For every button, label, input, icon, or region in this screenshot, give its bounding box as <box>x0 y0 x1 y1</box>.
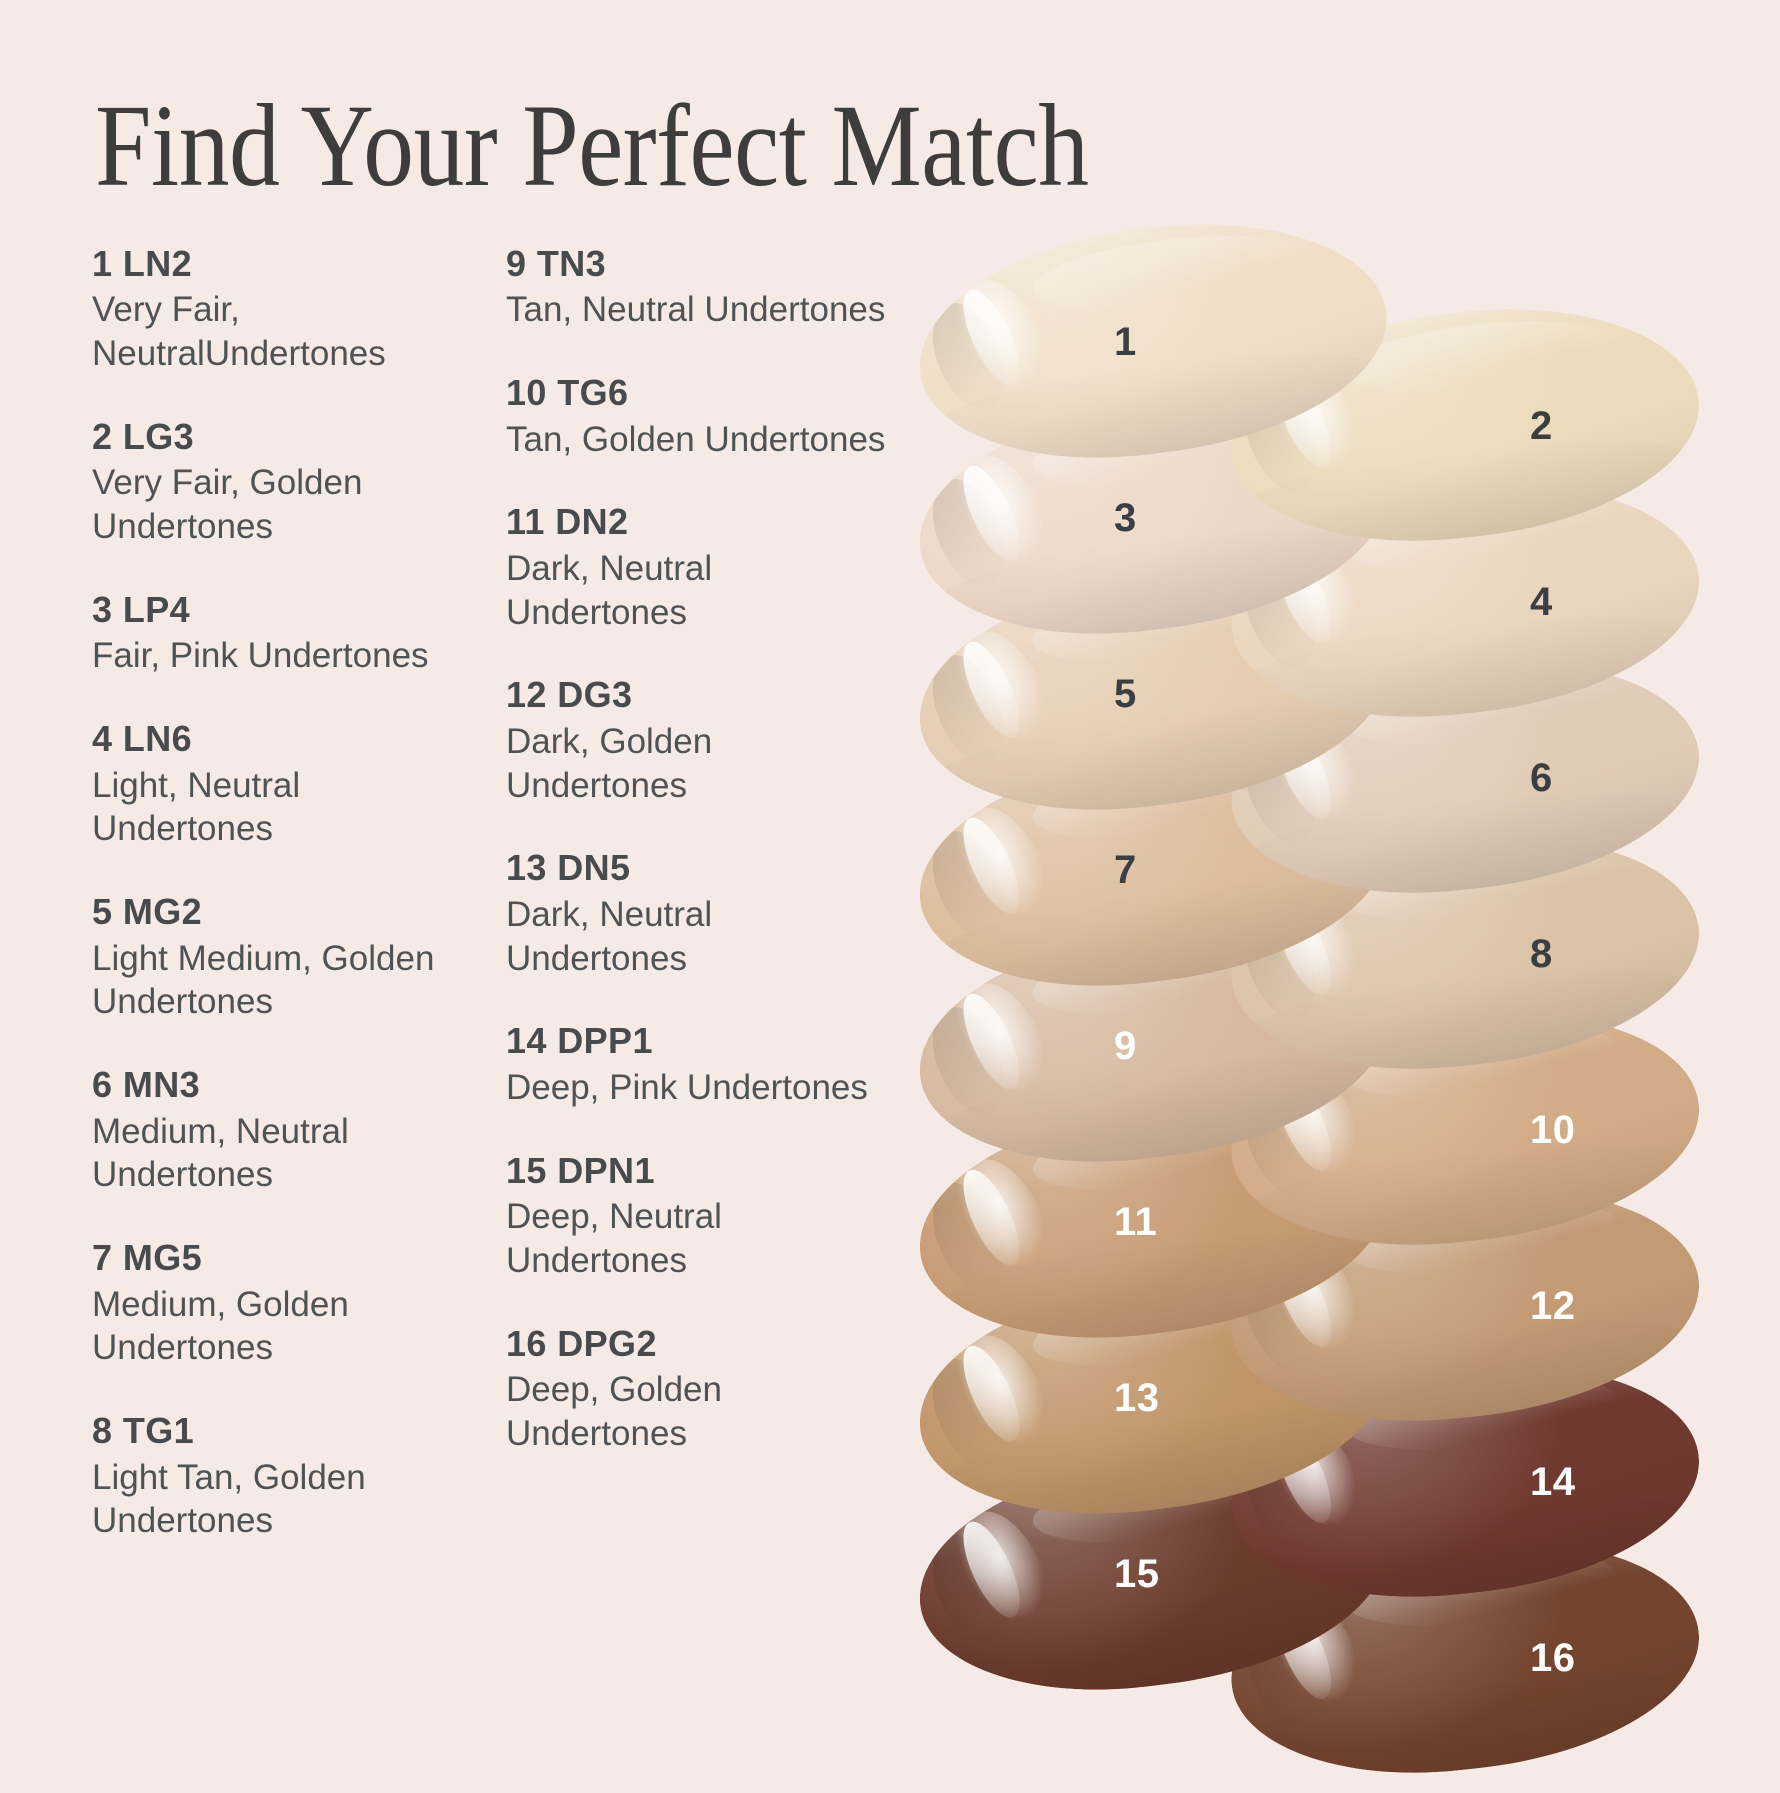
shade-description: Fair, Pink Undertones <box>92 634 450 678</box>
shade-code: 6 MN3 <box>92 1064 450 1106</box>
shade-list: 1 LN2 Very Fair, NeutralUndertones 2 LG3… <box>0 243 900 1583</box>
shade-list-column-left: 1 LN2 Very Fair, NeutralUndertones 2 LG3… <box>0 243 450 1583</box>
shade-code: 15 DPN1 <box>506 1150 900 1192</box>
shade-description: Light Tan, Golden Undertones <box>92 1456 450 1544</box>
shade-description: Dark, Neutral Undertones <box>506 893 900 981</box>
shade-code: 3 LP4 <box>92 589 450 631</box>
shade-item-13: 13 DN5 Dark, Neutral Undertones <box>506 847 900 980</box>
shade-list-column-right: 9 TN3 Tan, Neutral Undertones 10 TG6 Tan… <box>450 243 900 1583</box>
shade-code: 5 MG2 <box>92 891 450 933</box>
shade-description: Tan, Neutral Undertones <box>506 288 900 332</box>
shade-description: Light Medium, Golden Undertones <box>92 937 450 1025</box>
shade-description: Very Fair, Golden Undertones <box>92 461 450 549</box>
shade-code: 14 DPP1 <box>506 1020 900 1062</box>
shade-item-8: 8 TG1 Light Tan, Golden Undertones <box>92 1410 450 1543</box>
shade-description: Dark, Neutral Undertones <box>506 547 900 635</box>
shade-description: Tan, Golden Undertones <box>506 418 900 462</box>
foundation-swatch-cluster: 12345678910111213141516 <box>900 228 1780 1780</box>
shade-item-10: 10 TG6 Tan, Golden Undertones <box>506 372 900 461</box>
shade-code: 8 TG1 <box>92 1410 450 1452</box>
shade-code: 11 DN2 <box>506 501 900 543</box>
shade-item-11: 11 DN2 Dark, Neutral Undertones <box>506 501 900 634</box>
shade-item-5: 5 MG2 Light Medium, Golden Undertones <box>92 891 450 1024</box>
shade-description: Very Fair, NeutralUndertones <box>92 288 450 376</box>
shade-description: Dark, Golden Undertones <box>506 720 900 808</box>
shade-code: 12 DG3 <box>506 674 900 716</box>
shade-item-12: 12 DG3 Dark, Golden Undertones <box>506 674 900 807</box>
shade-item-14: 14 DPP1 Deep, Pink Undertones <box>506 1020 900 1109</box>
shade-description: Deep, Neutral Undertones <box>506 1195 900 1283</box>
shade-item-7: 7 MG5 Medium, Golden Undertones <box>92 1237 450 1370</box>
shade-description: Medium, Neutral Undertones <box>92 1110 450 1198</box>
shade-item-3: 3 LP4 Fair, Pink Undertones <box>92 589 450 678</box>
shade-item-2: 2 LG3 Very Fair, Golden Undertones <box>92 416 450 549</box>
shade-item-16: 16 DPG2 Deep, Golden Undertones <box>506 1323 900 1456</box>
shade-code: 4 LN6 <box>92 718 450 760</box>
shade-item-4: 4 LN6 Light, Neutral Undertones <box>92 718 450 851</box>
shade-code: 2 LG3 <box>92 416 450 458</box>
shade-description: Light, Neutral Undertones <box>92 764 450 852</box>
shade-item-15: 15 DPN1 Deep, Neutral Undertones <box>506 1150 900 1283</box>
shade-item-1: 1 LN2 Very Fair, NeutralUndertones <box>92 243 450 376</box>
shade-code: 10 TG6 <box>506 372 900 414</box>
shade-item-6: 6 MN3 Medium, Neutral Undertones <box>92 1064 450 1197</box>
shade-description: Deep, Pink Undertones <box>506 1066 900 1110</box>
shade-code: 7 MG5 <box>92 1237 450 1279</box>
page-title: Find Your Perfect Match <box>95 78 1089 214</box>
shade-description: Medium, Golden Undertones <box>92 1283 450 1371</box>
shade-description: Deep, Golden Undertones <box>506 1368 900 1456</box>
shade-code: 13 DN5 <box>506 847 900 889</box>
shade-code: 1 LN2 <box>92 243 450 285</box>
shade-code: 9 TN3 <box>506 243 900 285</box>
shade-item-9: 9 TN3 Tan, Neutral Undertones <box>506 243 900 332</box>
shade-code: 16 DPG2 <box>506 1323 900 1365</box>
